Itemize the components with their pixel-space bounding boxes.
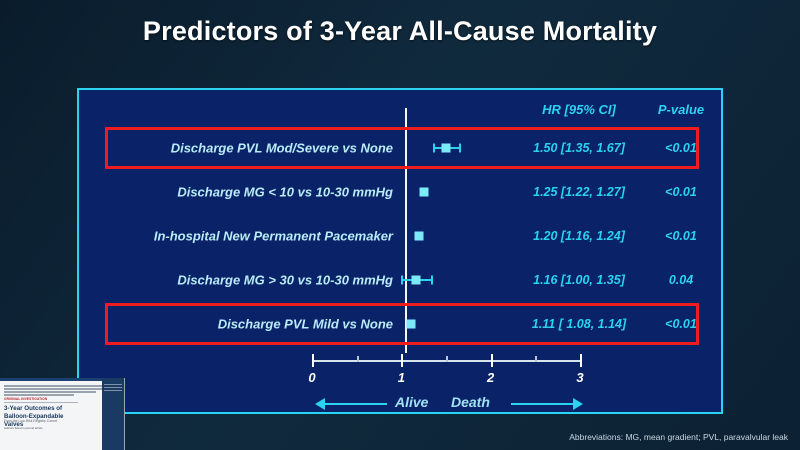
axis-tick-minor [535, 356, 537, 362]
thumbnail-subtitle: From the Low-Risk Registry Cohort [4, 419, 88, 423]
axis-tick-major [491, 354, 493, 367]
article-thumbnail[interactable]: ORIGINAL INVESTIGATION 3-Year Outcomes o… [0, 378, 125, 450]
axis-tick-major [401, 354, 403, 367]
direction-indicator-row: Alive Death [79, 394, 725, 416]
point-estimate-marker [419, 188, 428, 197]
thumbnail-text-line [4, 391, 96, 393]
forest-row-pvalue: 0.04 [644, 273, 718, 287]
thumbnail-divider [4, 402, 78, 403]
axis-tick-minor [446, 356, 448, 362]
forest-row: Discharge PVL Mild vs None1.11 [ 1.08, 1… [79, 302, 725, 346]
thumbnail-text-line [4, 385, 104, 387]
arrow-left-head-icon [315, 398, 325, 410]
direction-label-alive: Alive [395, 394, 428, 410]
confidence-interval-cap [433, 144, 435, 153]
forest-row: Discharge MG < 10 vs 10-30 mmHg1.25 [1.2… [79, 170, 725, 214]
confidence-interval-cap [401, 276, 403, 285]
arrow-left-icon [325, 403, 387, 405]
thumbnail-sidebar [102, 378, 124, 450]
arrow-right-icon [511, 403, 573, 405]
forest-row: Discharge MG > 30 vs 10-30 mmHg1.16 [1.0… [79, 258, 725, 302]
forest-row-hr-value: 1.20 [1.16, 1.24] [519, 229, 639, 243]
arrow-right-head-icon [573, 398, 583, 410]
axis-tick-label: 1 [388, 370, 414, 385]
forest-row-pvalue: <0.01 [644, 229, 718, 243]
point-estimate-marker [442, 144, 451, 153]
forest-row-pvalue: <0.01 [644, 317, 718, 331]
forest-row-pvalue: <0.01 [644, 185, 718, 199]
column-header-hr: HR [95% CI] [519, 102, 639, 117]
forest-row: In-hospital New Permanent Pacemaker1.20 … [79, 214, 725, 258]
forest-row-hr-value: 1.25 [1.22, 1.27] [519, 185, 639, 199]
forest-row-hr-value: 1.11 [ 1.08, 1.14] [519, 317, 639, 331]
abbreviations-note: Abbreviations: MG, mean gradient; PVL, p… [569, 432, 788, 442]
point-estimate-marker [411, 276, 420, 285]
axis-tick-label: 0 [299, 370, 325, 385]
column-header-pvalue: P-value [644, 102, 718, 117]
axis-tick-major [580, 354, 582, 367]
confidence-interval-cap [431, 276, 433, 285]
axis-tick-minor [357, 356, 359, 362]
point-estimate-marker [415, 232, 424, 241]
thumbnail-kicker: ORIGINAL INVESTIGATION [4, 397, 47, 401]
axis-tick-label: 3 [567, 370, 593, 385]
thumbnail-authors: Authors listed in journal article [4, 426, 116, 430]
confidence-interval-cap [459, 144, 461, 153]
axis-tick-major [312, 354, 314, 367]
forest-row: Discharge PVL Mod/Severe vs None1.50 [1.… [79, 126, 725, 170]
forest-row-pvalue: <0.01 [644, 141, 718, 155]
thumbnail-text-line [4, 394, 74, 396]
x-axis: 0123 Alive Death [79, 352, 725, 416]
direction-label-death: Death [451, 394, 490, 410]
thumbnail-text-line [4, 388, 108, 390]
thumbnail-title: 3-Year Outcomes of Balloon-Expandable Va… [4, 405, 84, 428]
forest-row-hr-value: 1.50 [1.35, 1.67] [519, 141, 639, 155]
forest-row-hr-value: 1.16 [1.00, 1.35] [519, 273, 639, 287]
axis-tick-label: 2 [478, 370, 504, 385]
forest-plot-panel: HR [95% CI] P-value Discharge PVL Mod/Se… [77, 88, 723, 414]
point-estimate-marker [407, 320, 416, 329]
page-title: Predictors of 3-Year All-Cause Mortality [0, 16, 800, 47]
column-header-row: HR [95% CI] P-value [79, 102, 725, 124]
